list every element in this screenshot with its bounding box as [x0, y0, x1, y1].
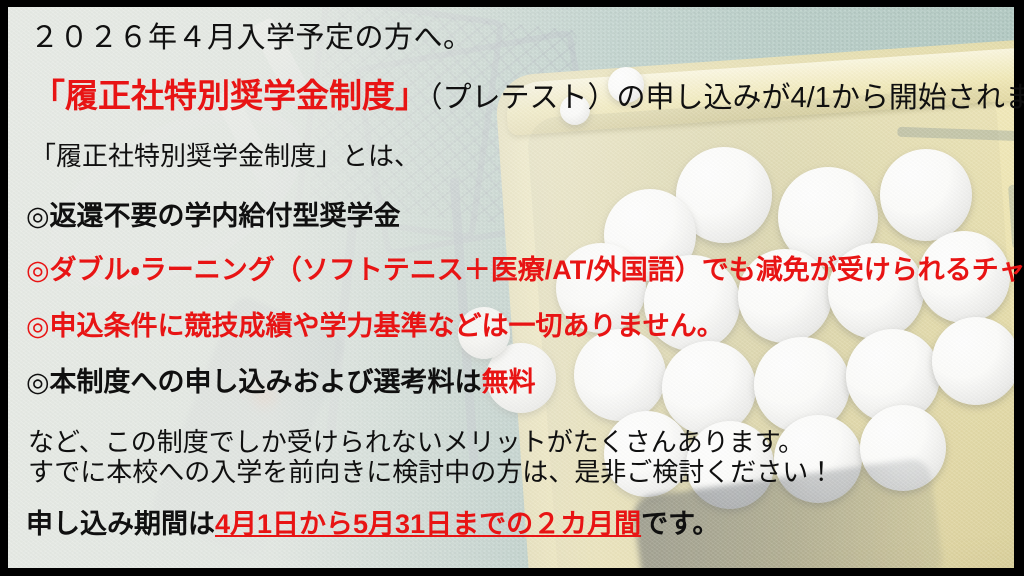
period-dates: 4月1日から5月31日までの２カ月間 [215, 509, 641, 539]
headline: 「履正社特別奨学金制度」（プレテスト）の申し込みが4/1から開始されます。 [32, 79, 1024, 113]
poster: ２０２６年４月入学予定の方へ。 「履正社特別奨学金制度」（プレテスト）の申し込み… [0, 0, 1024, 576]
headline-program-name: 「履正社特別奨学金制度」 [32, 77, 428, 114]
bullet-scholarship-no-repay: ◎返還不要の学内給付型奨学金 [26, 203, 401, 230]
closing-line-2: すでに本校への入学を前向きに検討中の方は、是非ご検討ください！ [28, 459, 834, 485]
bullet-double-learning: ◎ダブル・ラーニング（ソフトテニス＋医療/AT/外国語）でも減免が受けられるチャ… [26, 257, 1024, 284]
bullet-free-application: ◎本制度への申し込みおよび選考料は無料 [26, 369, 536, 396]
fee-line-prefix: ◎本制度への申し込みおよび選考料は [26, 367, 482, 397]
text-layer: ２０２６年４月入学予定の方へ。 「履正社特別奨学金制度」（プレテスト）の申し込み… [0, 0, 1024, 576]
period-prefix: 申し込み期間は [26, 509, 215, 539]
intro-line: ２０２６年４月入学予定の方へ。 [30, 24, 473, 53]
closing-line-1: など、この制度でしか受けられないメリットがたくさんあります。 [28, 429, 804, 455]
headline-tail: （プレテスト）の申し込みが4/1から開始されます。 [428, 82, 1024, 114]
fee-line-highlight: 無料 [482, 367, 536, 397]
period-suffix: です。 [641, 509, 719, 539]
application-period-line: 申し込み期間は4月1日から5月31日までの２カ月間です。 [26, 511, 719, 538]
definition-lead: 「履正社特別奨学金制度」とは、 [30, 143, 420, 169]
bullet-no-requirements: ◎申込条件に競技成績や学力基準などは一切ありません。 [26, 313, 724, 340]
